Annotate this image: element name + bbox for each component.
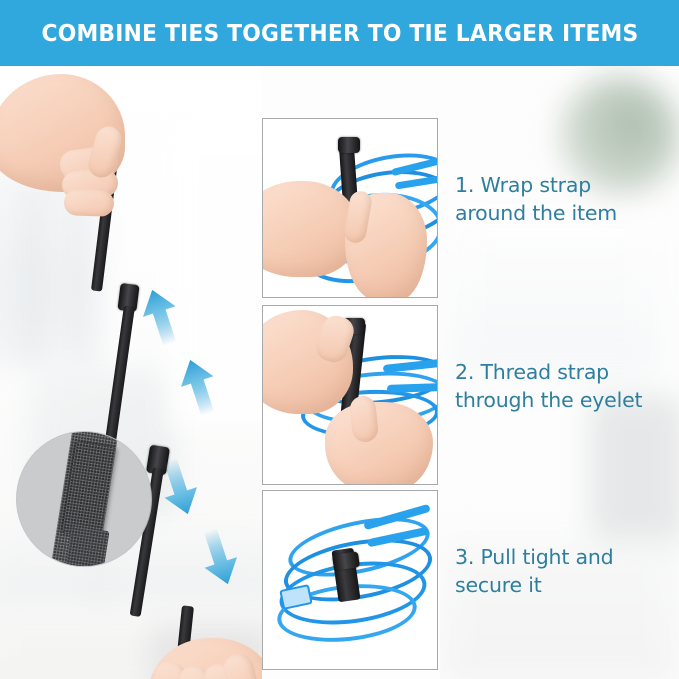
- hero-bg-frame-left: [28, 186, 38, 366]
- step-panel-1: [262, 118, 438, 298]
- step-panel-2: [262, 305, 438, 485]
- infographic-root: COMBINE TIES TOGETHER TO TIE LARGER ITEM…: [0, 0, 679, 679]
- strap-eyelet-step-1: [338, 137, 360, 153]
- step-panel-3: [262, 490, 438, 670]
- step-3-scene: [263, 491, 437, 669]
- body-area: 1. Wrap strap around the item 2. Thread …: [0, 66, 679, 679]
- header-banner: COMBINE TIES TOGETHER TO TIE LARGER ITEM…: [0, 0, 679, 66]
- banner-title: COMBINE TIES TOGETHER TO TIE LARGER ITEM…: [41, 19, 638, 47]
- finger-ring: [64, 189, 115, 217]
- hero-photo: [0, 66, 262, 679]
- step-2-label: 2. Thread strap through the eyelet: [455, 358, 642, 414]
- step-2-hand-lower: [325, 402, 433, 485]
- background-furniture: [590, 396, 679, 546]
- step-2-scene: [263, 306, 437, 484]
- step-1-label: 1. Wrap strap around the item: [455, 171, 617, 227]
- background-window: [450, 216, 660, 376]
- detail-inset-circle: [17, 432, 151, 566]
- step-3-label: 3. Pull tight and secure it: [455, 543, 613, 599]
- step-1-scene: [263, 119, 437, 297]
